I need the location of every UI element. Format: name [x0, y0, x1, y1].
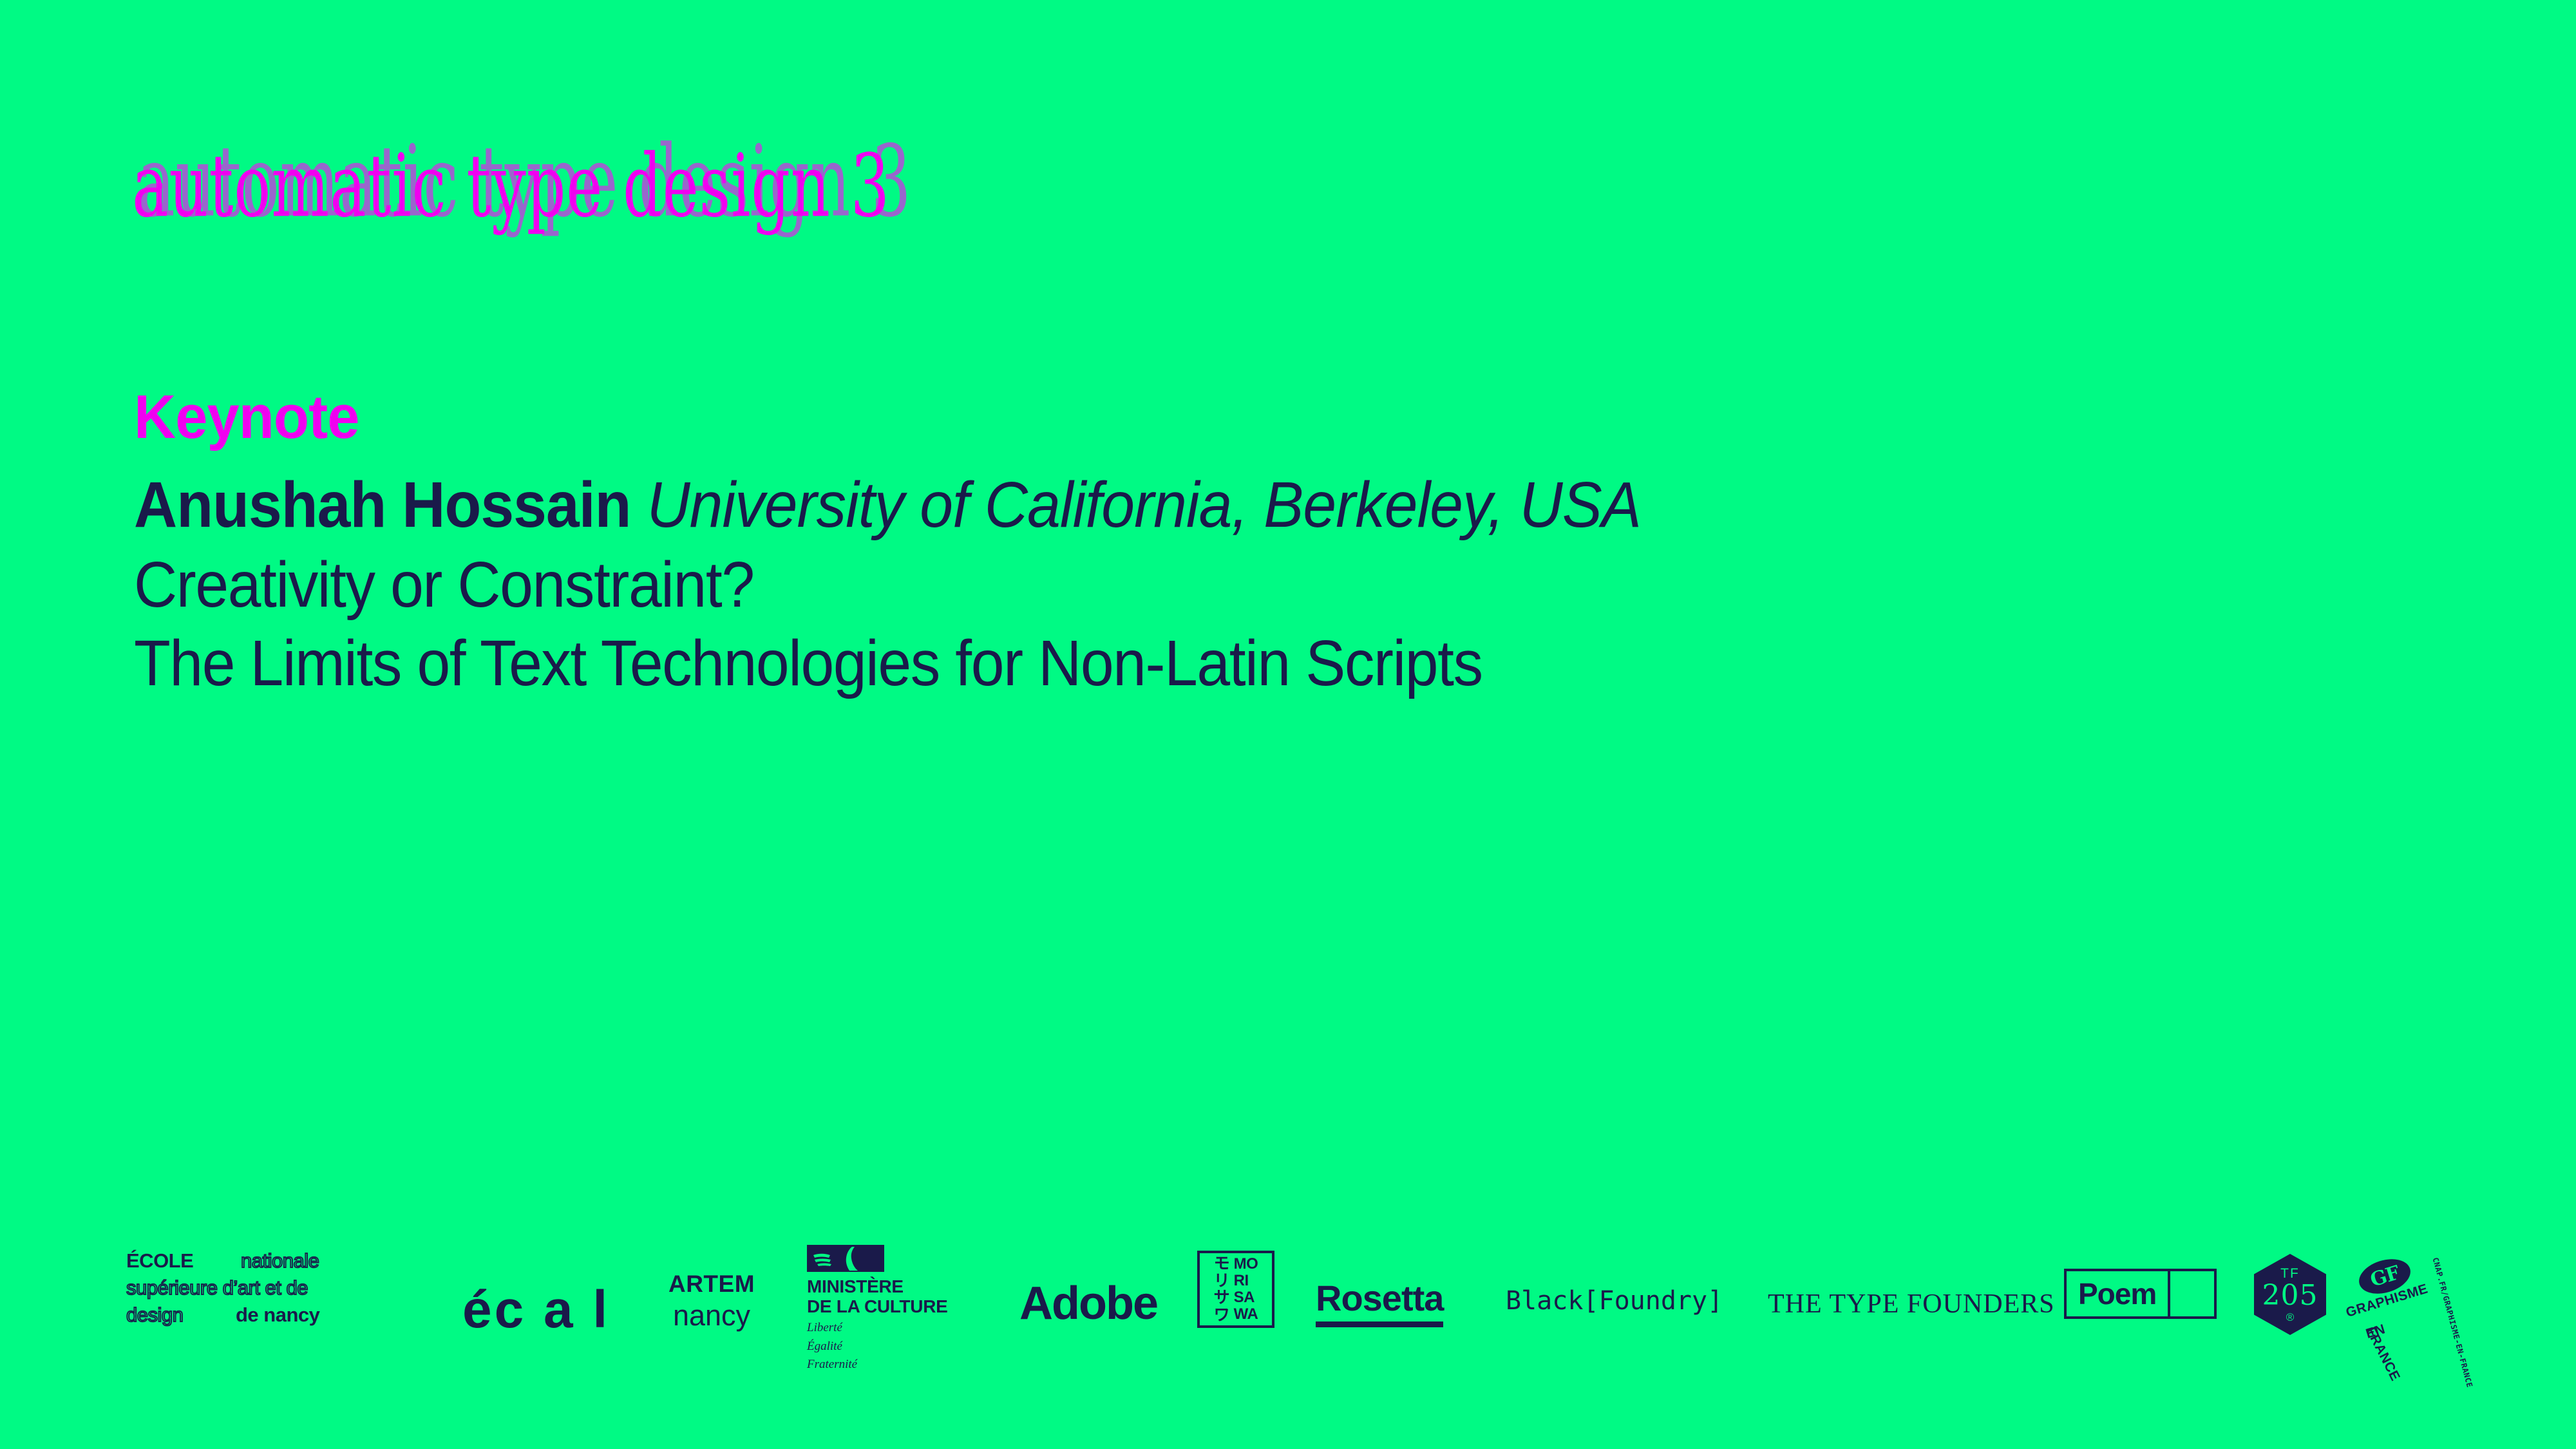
logo-morisawa: モリサワ MORISAWA [1197, 1251, 1274, 1328]
ministere-line-1: MINISTÈRE [807, 1276, 987, 1296]
logo-artem-nancy: ARTEM nancy [654, 1271, 770, 1332]
logo-adobe: Adobe [1019, 1277, 1157, 1330]
event-title-main-layer: automatic type design 3 [132, 143, 890, 230]
gf-monogram-text: GF [2367, 1262, 2401, 1292]
logo-the-type-founders: THE TYPE FOUNDERS [1768, 1289, 2055, 1320]
logo-ensad-nancy: ÉCOLE nationale supérieure d’art et de d… [126, 1249, 410, 1352]
presentation-slide: automatic type design 3 automatic type d… [0, 0, 2576, 1449]
speaker-name: Anushah Hossain [134, 469, 631, 541]
tf205-number: 205 [2262, 1282, 2318, 1310]
logo-black-foundry: Black[Foundry] [1506, 1286, 1723, 1316]
ensad-nationale-text: nationale [241, 1249, 319, 1273]
morisawa-japanese-wordmark: モリサワ [1214, 1255, 1230, 1323]
logo-tf205: TF 205 ® [2254, 1254, 2326, 1335]
sponsor-logo-strip: ÉCOLE nationale supérieure d’art et de d… [0, 1240, 2576, 1381]
logo-rosetta: Rosetta [1316, 1277, 1443, 1327]
session-details: Keynote Anushah Hossain University of Ca… [134, 386, 2452, 696]
rosetta-underline-rule [1316, 1321, 1443, 1327]
marianne-emblem-icon [807, 1245, 884, 1272]
speaker-line: Anushah Hossain University of California… [134, 473, 2290, 537]
logo-poem: Poem [2064, 1269, 2217, 1319]
artem-city: nancy [654, 1299, 770, 1332]
ensad-design-text: design [126, 1303, 183, 1327]
devise-fraternite: Fraternité [807, 1358, 987, 1372]
gf-url-text: CNAP.FR/GRAPHISME-EN-FRANCE [2430, 1256, 2474, 1388]
ensad-de-nancy-text: de nancy [236, 1303, 319, 1327]
tf205-initials: TF [2280, 1267, 2300, 1280]
session-type-label: Keynote [134, 386, 2313, 448]
logo-ministere-culture: MINISTÈRE DE LA CULTURE Liberté Égalité … [807, 1245, 987, 1372]
morisawa-latin-wordmark: MORISAWA [1234, 1256, 1258, 1323]
artem-wordmark: ARTEM [654, 1271, 770, 1298]
registered-mark-icon: ® [2286, 1312, 2295, 1323]
devise-egalite: Égalité [807, 1340, 987, 1354]
logo-graphisme-en-france: GF GRAPHISME EN FRANCE CNAP.FR/GRAPHISME… [2343, 1246, 2465, 1362]
logo-ecal: éc a l [462, 1280, 610, 1340]
talk-title-line-1: Creativity or Constraint? [134, 553, 2290, 617]
rosetta-wordmark: Rosetta [1316, 1277, 1443, 1319]
ministere-line-2: DE LA CULTURE [807, 1296, 987, 1316]
talk-title-line-2: The Limits of Text Technologies for Non-… [134, 631, 2290, 696]
event-title: automatic type design 3 automatic type d… [132, 143, 1806, 259]
devise-liberte: Liberté [807, 1321, 987, 1336]
ensad-ecole-text: ÉCOLE [126, 1249, 193, 1273]
poem-wordmark: Poem [2067, 1271, 2170, 1316]
speaker-affiliation: University of California, Berkeley, USA [647, 469, 1641, 541]
tf205-content: TF 205 ® [2254, 1254, 2326, 1335]
ensad-superieure-text: supérieure d’art et de [126, 1276, 308, 1300]
poem-empty-cell [2170, 1271, 2214, 1316]
